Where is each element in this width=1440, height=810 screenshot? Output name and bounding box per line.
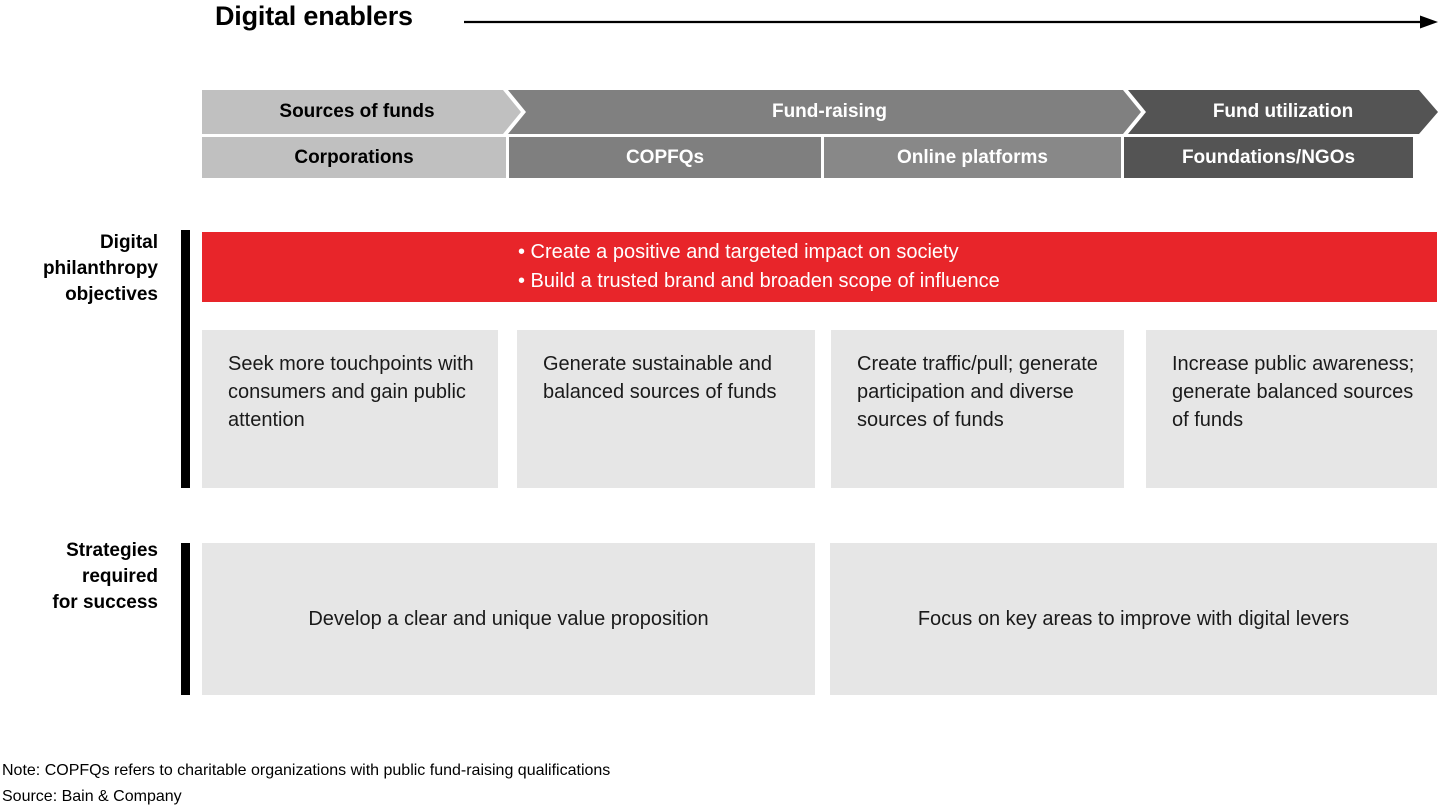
row-label-digital-philanthropy-objectives: Digital philanthropy objectives [0,230,158,308]
actor-shape-corporations [202,137,506,178]
actor-band: Corporations COPFQs Online platforms Fou… [202,137,1413,178]
process-stage-band: Sources of funds Fund-raising Fund utili… [202,90,1438,134]
right-arrow-icon [464,15,1438,29]
objective-box-text: Create traffic/pull; generate participat… [857,350,1110,434]
footnote-source: Source: Bain & Company [2,786,182,808]
actor-segments [202,137,1413,178]
stage-shape-fund-raising [508,90,1141,134]
strategy-box-value-proposition: Develop a clear and unique value proposi… [202,543,815,695]
stage-shape-fund-utilization [1128,90,1438,134]
objective-box-copfqs: Generate sustainable and balanced source… [517,330,815,488]
objective-box-corporations: Seek more touchpoints with consumers and… [202,330,498,488]
objectives-bullet-1: • Create a positive and targeted impact … [518,238,1121,267]
objective-box-text: Increase public awareness; generate bala… [1172,350,1423,434]
footnote-note: Note: COPFQs refers to charitable organi… [2,760,610,782]
strategy-box-digital-levers: Focus on key areas to improve with digit… [830,543,1437,695]
page-title: Digital enablers [215,0,413,33]
row-label-strategies-required-for-success: Strategies required for success [0,538,158,616]
strategies-row-rail [181,543,190,695]
objective-box-online-platforms: Create traffic/pull; generate participat… [831,330,1124,488]
actor-shape-online-platforms [824,137,1121,178]
objectives-banner: • Create a positive and targeted impact … [202,232,1437,302]
title-row: Digital enablers [0,0,1440,40]
objective-box-text: Seek more touchpoints with consumers and… [228,350,484,434]
actor-shape-foundations-ngos [1124,137,1413,178]
actor-shape-copfqs [509,137,821,178]
stage-chevrons [202,90,1438,134]
objective-box-foundations-ngos: Increase public awareness; generate bala… [1146,330,1437,488]
objective-box-text: Generate sustainable and balanced source… [543,350,801,406]
objectives-bullet-2: • Build a trusted brand and broaden scop… [518,267,1121,296]
stage-shape-sources-of-funds [202,90,521,134]
strategy-box-text: Focus on key areas to improve with digit… [918,605,1349,633]
objectives-row-rail [181,230,190,488]
strategy-box-text: Develop a clear and unique value proposi… [308,605,708,633]
slide-canvas: Digital enablers Sources of funds Fund-r… [0,0,1440,810]
